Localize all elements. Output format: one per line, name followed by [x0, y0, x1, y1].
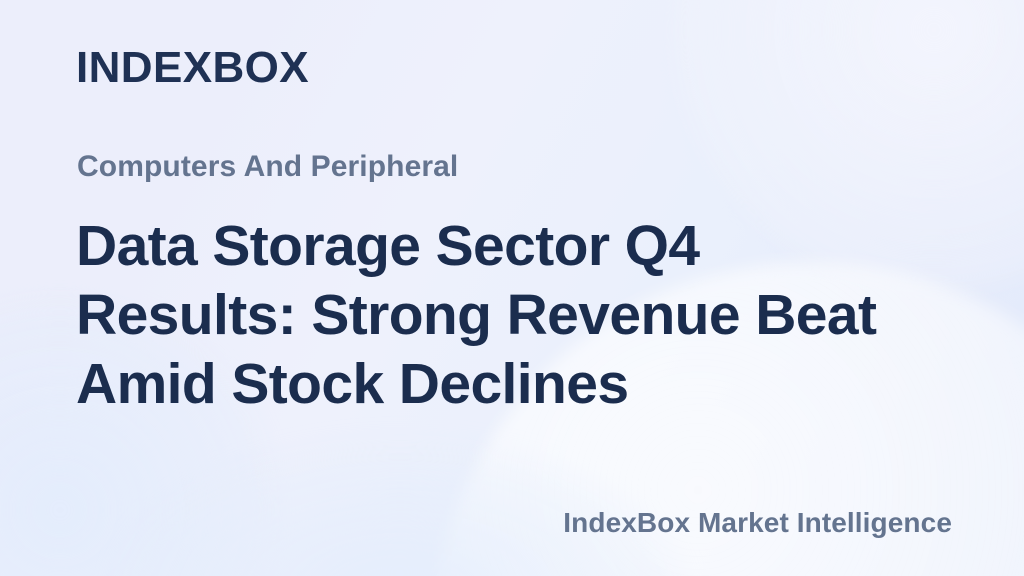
article-category: Computers And Peripheral [77, 150, 458, 183]
cover-content: INDEXBOX Computers And Peripheral Data S… [0, 0, 1024, 576]
headline-line-3: Amid Stock Declines [76, 350, 936, 419]
headline-line-1: Data Storage Sector Q4 [76, 212, 936, 281]
indexbox-logo[interactable]: INDEXBOX [76, 46, 309, 90]
article-headline: Data Storage Sector Q4 Results: Strong R… [76, 212, 936, 419]
headline-line-2: Results: Strong Revenue Beat [76, 281, 936, 350]
footer-attribution: IndexBox Market Intelligence [563, 506, 952, 540]
article-cover-card: INDEXBOX Computers And Peripheral Data S… [0, 0, 1024, 576]
